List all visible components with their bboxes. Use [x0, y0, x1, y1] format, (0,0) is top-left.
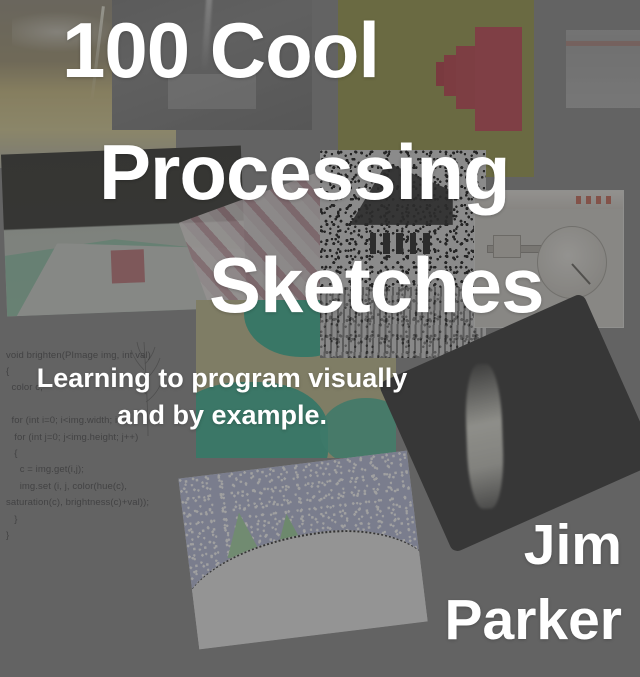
subtitle-line-2: and by example.	[0, 397, 444, 434]
subtitle-line-1: Learning to program visually	[0, 360, 444, 397]
author-name: Jim Parker	[322, 508, 622, 658]
cover-text-layer: 100 Cool Processing Sketches Learning to…	[0, 0, 640, 677]
author-first-name: Jim	[322, 508, 622, 583]
title-line-3: Sketches	[209, 248, 544, 322]
subtitle: Learning to program visually and by exam…	[0, 360, 444, 434]
title-line-1: 100 Cool	[62, 13, 379, 87]
book-cover: void brighten(PImage img, int val) { col…	[0, 0, 640, 677]
title-line-2: Processing	[99, 135, 510, 209]
author-last-name: Parker	[322, 583, 622, 658]
